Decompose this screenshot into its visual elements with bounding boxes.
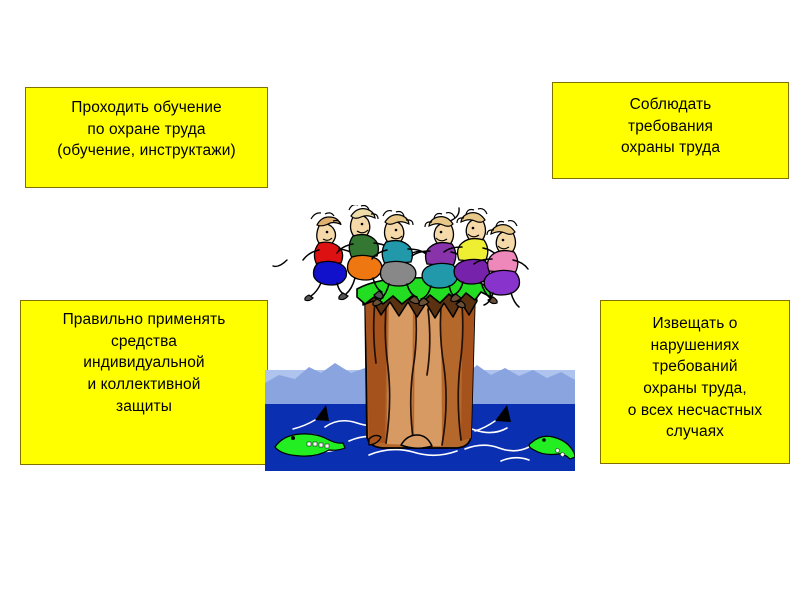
callout-ppe[interactable]: Правильно применять средства индивидуаль… [20,300,268,465]
slide-canvas: Проходить обучение по охране труда (обуч… [0,0,800,600]
tree-stump [363,289,477,448]
person-left-1 [303,213,355,301]
tree-stump-island-illustration [265,205,575,471]
callout-comply[interactable]: Соблюдать требования охраны труда [552,82,789,179]
callout-report[interactable]: Извещать о нарушениях требований охраны … [600,300,790,464]
callout-training[interactable]: Проходить обучение по охране труда (обуч… [25,87,268,188]
